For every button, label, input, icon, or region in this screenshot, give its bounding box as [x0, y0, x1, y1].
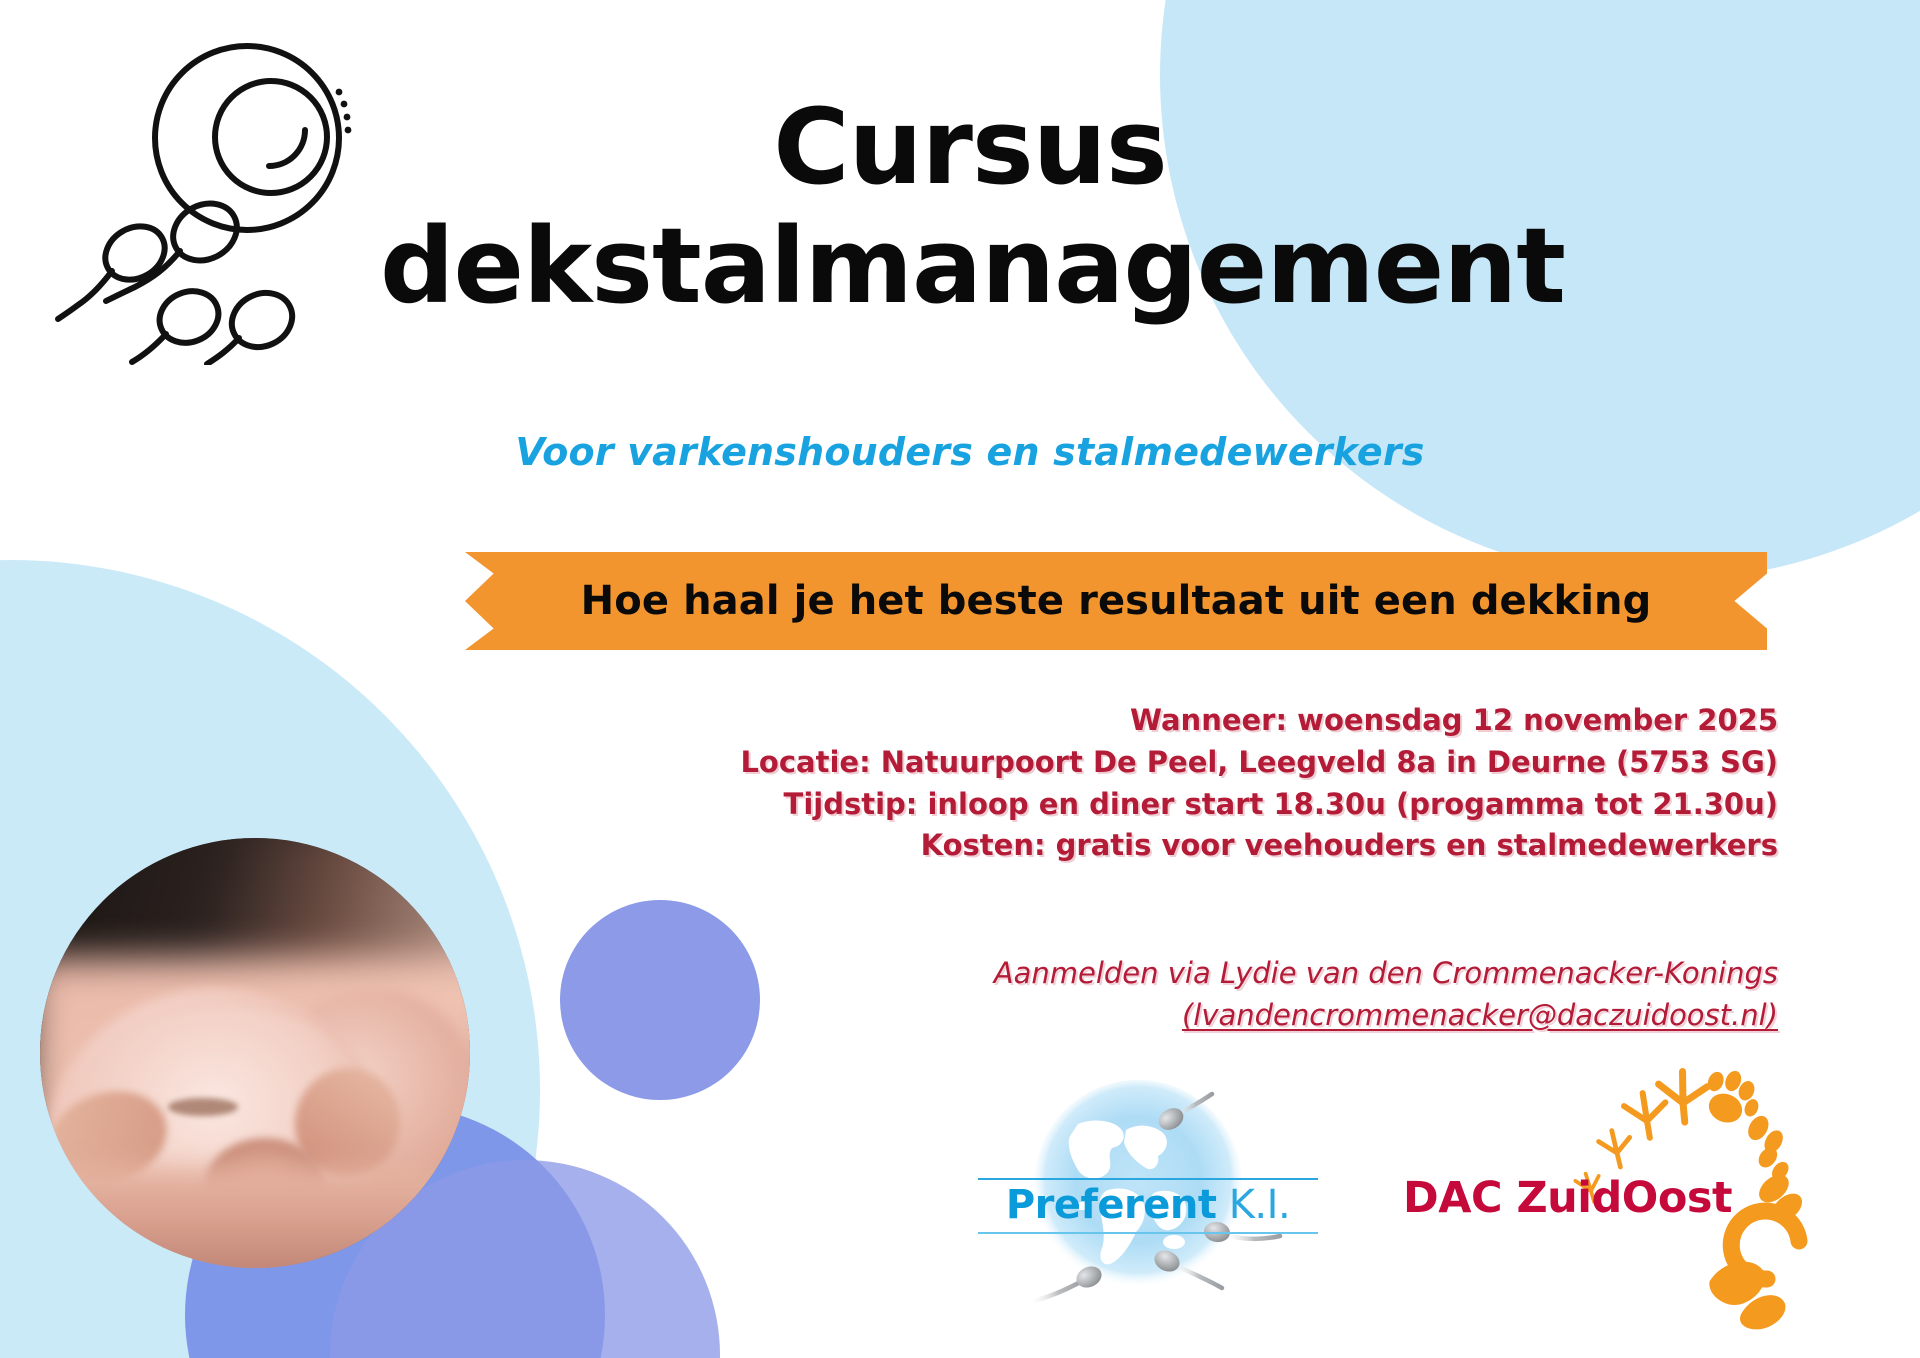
preferent-name: Preferent	[1006, 1182, 1217, 1228]
signup-contact: Aanmelden via Lydie van den Crommenacker…	[600, 953, 1778, 995]
preferent-wordmark: Preferent K.I.	[978, 1178, 1318, 1234]
piglet-photo	[40, 838, 470, 1268]
detail-when: Wanneer: woensdag 12 november 2025	[600, 700, 1778, 742]
detail-time: Tijdstip: inloop en diner start 18.30u (…	[600, 784, 1778, 826]
highlight-banner-text: Hoe haal je het beste resultaat uit een …	[581, 578, 1652, 624]
highlight-banner: Hoe haal je het beste resultaat uit een …	[465, 552, 1767, 650]
signup-email-link[interactable]: (lvandencrommenacker@daczuidoost.nl)	[600, 995, 1778, 1037]
poster-canvas: Cursus dekstalmanagement Voor varkenshou…	[0, 0, 1920, 1358]
page-subtitle: Voor varkenshouders en stalmedewerkers	[380, 430, 1560, 474]
page-title: Cursus dekstalmanagement	[380, 88, 1560, 325]
title-line-2: dekstalmanagement	[380, 207, 1560, 326]
title-line-1: Cursus	[380, 88, 1560, 207]
logo-preferent-ki: Preferent K.I.	[960, 1060, 1340, 1310]
event-details: Wanneer: woensdag 12 november 2025 Locat…	[600, 700, 1800, 867]
detail-cost: Kosten: gratis voor veehouders en stalme…	[600, 825, 1778, 867]
logo-dac-zuidoost: DAC ZuidOost	[1395, 1045, 1825, 1335]
egg-and-sperm-illustration	[50, 25, 390, 365]
detail-location: Locatie: Natuurpoort De Peel, Leegveld 8…	[600, 742, 1778, 784]
signup-info: Aanmelden via Lydie van den Crommenacker…	[600, 953, 1800, 1037]
dac-wordmark: DAC ZuidOost	[1403, 1173, 1732, 1223]
preferent-ki-suffix: K.I.	[1216, 1182, 1290, 1228]
egg-cell-icon	[50, 25, 390, 365]
